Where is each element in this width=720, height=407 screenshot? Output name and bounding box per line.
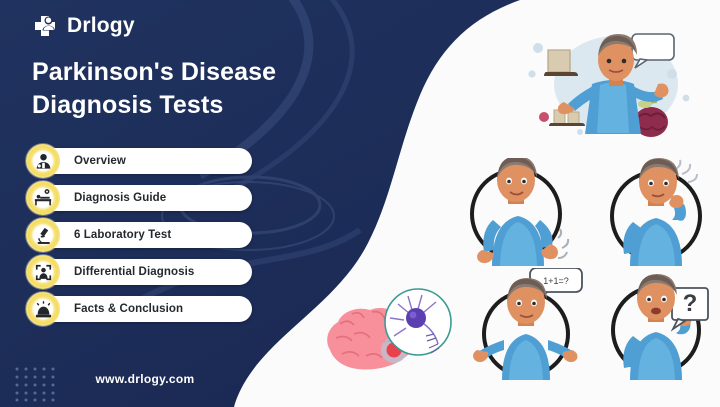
hospital-bed-icon (26, 181, 60, 215)
sidebar-item-label: Differential Diagnosis (74, 266, 194, 278)
memory-confusion-illustration (520, 22, 705, 147)
sidebar-item-overview[interactable]: Overview (30, 148, 252, 174)
sidebar-item-label: Overview (74, 155, 126, 167)
patient-scan-icon (26, 255, 60, 289)
medical-cross-person-icon (32, 13, 58, 39)
website-url[interactable]: www.drlogy.com (0, 372, 290, 386)
section-menu-list: Overview Diagnosis Guide (30, 148, 252, 333)
brain-neuron-illustration (322, 288, 456, 380)
sidebar-item-label: 6 Laboratory Test (74, 229, 171, 241)
math-bubble-text: 1+1=? (543, 276, 569, 286)
alarm-siren-icon (26, 292, 60, 326)
sidebar-item-label: Diagnosis Guide (74, 192, 166, 204)
page-title: Parkinson's Disease Diagnosis Tests (32, 56, 307, 122)
question-mark-text: ? (683, 290, 698, 317)
tremor-symptom-circle (462, 158, 570, 266)
brand-logo[interactable]: Drlogy (32, 13, 135, 39)
infographic-canvas: Drlogy Parkinson's Disease Diagnosis Tes… (0, 0, 720, 407)
microscope-icon (26, 218, 60, 252)
brand-name: Drlogy (67, 14, 135, 38)
cognitive-test-circle: 1+1=? (472, 268, 590, 380)
title-line-1: Parkinson's Disease (32, 58, 276, 86)
confusion-symptom-circle (604, 158, 712, 266)
sidebar-item-differential-diagnosis[interactable]: Differential Diagnosis (30, 259, 252, 285)
doctor-person-icon (26, 144, 60, 178)
sidebar-item-laboratory-test[interactable]: 6 Laboratory Test (30, 222, 252, 248)
title-line-2: Diagnosis Tests (32, 89, 307, 122)
question-card-circle: ? (606, 272, 718, 380)
sidebar-item-label: Facts & Conclusion (74, 303, 183, 315)
sidebar-item-diagnosis-guide[interactable]: Diagnosis Guide (30, 185, 252, 211)
sidebar-item-facts-conclusion[interactable]: Facts & Conclusion (30, 296, 252, 322)
